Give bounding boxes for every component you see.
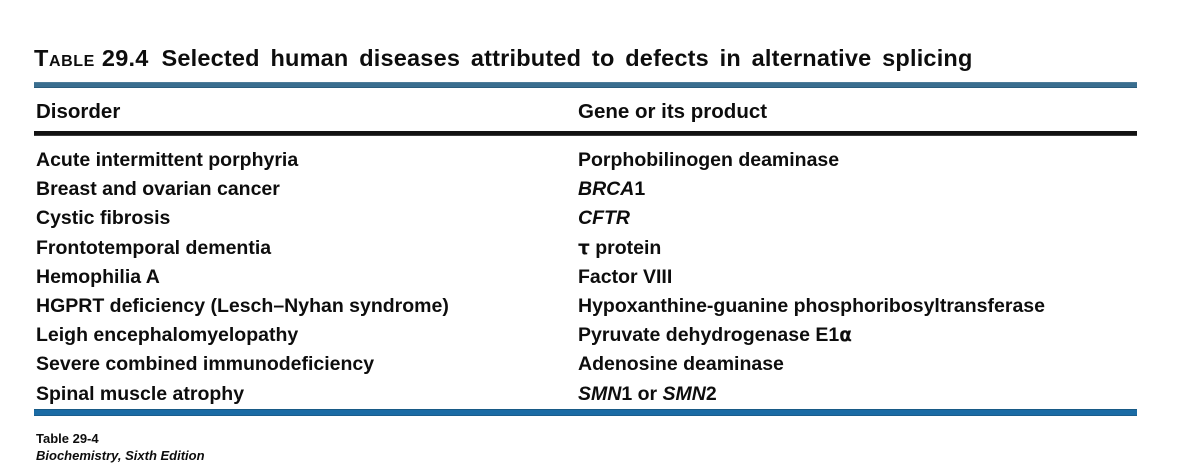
table-row: Spinal muscle atrophySMN1 or SMN2	[0, 380, 1184, 408]
gene-text-part: CFTR	[578, 207, 630, 229]
gene-text-part: BRCA	[578, 178, 634, 200]
gene-text-part: Pyruvate dehydrogenase E1	[578, 324, 839, 346]
gene-text-part: Factor VIII	[578, 266, 672, 288]
gene-text-part: τ	[578, 238, 590, 259]
cell-disorder: Hemophilia A	[36, 263, 160, 291]
table-row: Acute intermittent porphyriaPorphobilino…	[0, 146, 1184, 174]
gene-text-part: Adenosine deaminase	[578, 353, 784, 375]
table-row: Severe combined immunodeficiencyAdenosin…	[0, 350, 1184, 378]
table-row: Leigh encephalomyelopathyPyruvate dehydr…	[0, 321, 1184, 349]
cell-disorder: Spinal muscle atrophy	[36, 380, 244, 408]
cell-disorder: HGPRT deficiency (Lesch–Nyhan syndrome)	[36, 292, 449, 320]
table-body: Acute intermittent porphyriaPorphobilino…	[0, 0, 1184, 470]
cell-gene: Factor VIII	[578, 263, 672, 291]
cell-gene: SMN1 or SMN2	[578, 380, 717, 408]
gene-text-part: Hypoxanthine-guanine phosphoribosyltrans…	[578, 295, 1045, 317]
table-row: Cystic fibrosisCFTR	[0, 204, 1184, 232]
cell-disorder: Leigh encephalomyelopathy	[36, 321, 298, 349]
table-row: HGPRT deficiency (Lesch–Nyhan syndrome)H…	[0, 292, 1184, 320]
gene-text-part: SMN	[663, 383, 706, 405]
table-row: Hemophilia AFactor VIII	[0, 263, 1184, 291]
cell-gene: Porphobilinogen deaminase	[578, 146, 839, 174]
caption-source-title: Biochemistry, Sixth Edition	[36, 447, 205, 464]
caption-table-number: Table 29-4	[36, 430, 205, 447]
gene-text-part: SMN	[578, 383, 621, 405]
cell-disorder: Severe combined immunodeficiency	[36, 350, 374, 378]
gene-text-part: Porphobilinogen deaminase	[578, 149, 839, 171]
cell-disorder: Acute intermittent porphyria	[36, 146, 298, 174]
cell-gene: Adenosine deaminase	[578, 350, 784, 378]
table-row: Frontotemporal dementiaτ protein	[0, 234, 1184, 262]
cell-disorder: Frontotemporal dementia	[36, 234, 271, 262]
rule-bottom	[34, 409, 1137, 416]
cell-gene: Hypoxanthine-guanine phosphoribosyltrans…	[578, 292, 1045, 320]
gene-text-part: α	[839, 325, 852, 346]
table-row: Breast and ovarian cancerBRCA1	[0, 175, 1184, 203]
table-figure: Table29.4Selected human diseases attribu…	[0, 0, 1184, 470]
gene-text-part: 1	[634, 178, 645, 200]
figure-caption: Table 29-4 Biochemistry, Sixth Edition	[36, 430, 205, 464]
gene-text-part: 2	[706, 383, 717, 405]
cell-disorder: Cystic fibrosis	[36, 204, 170, 232]
cell-gene: BRCA1	[578, 175, 645, 203]
gene-text-part: 1 or	[621, 383, 662, 405]
cell-disorder: Breast and ovarian cancer	[36, 175, 280, 203]
cell-gene: CFTR	[578, 204, 630, 232]
cell-gene: Pyruvate dehydrogenase E1α	[578, 321, 852, 350]
cell-gene: τ protein	[578, 234, 661, 263]
gene-text-part: protein	[590, 237, 662, 259]
